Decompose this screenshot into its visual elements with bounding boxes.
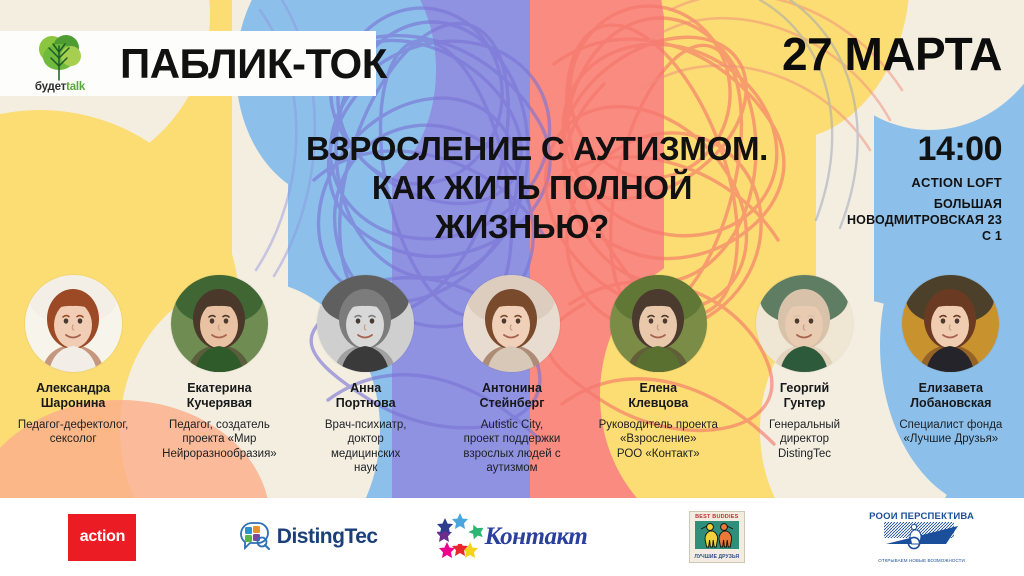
headline-line-3: ЖИЗНЬЮ? xyxy=(10,208,1024,247)
speaker-role: Педагог-дефектолог, сексолог xyxy=(16,418,131,447)
budet-talk-logo[interactable]: будетtalk xyxy=(14,33,106,95)
sponsor-logos-bar: action DistingTec xyxy=(0,498,1024,576)
budet-talk-wordmark: будетtalk xyxy=(14,81,106,93)
kontakt-logo-text: Контакт xyxy=(485,523,588,551)
speakers-row: Александра ШаронинаПедагог-дефектолог, с… xyxy=(0,275,1024,500)
speaker-card: Екатерина КучеряваяПедагог, создатель пр… xyxy=(146,275,292,500)
speaker-name: Георгий Гунтер xyxy=(780,381,829,411)
speaker-name: Екатерина Кучерявая xyxy=(187,381,252,411)
speaker-avatar xyxy=(171,275,268,372)
header-banner: будетtalk ПАБЛИК-ТОК xyxy=(0,31,376,96)
brain-puzzle-icon xyxy=(237,520,271,555)
speaker-avatar xyxy=(463,275,560,372)
perspektiva-logo-subtext: ОТКРЫВАЕМ НОВЫЕ ВОЗМОЖНОСТИ xyxy=(878,558,965,563)
logo-word-talk: talk xyxy=(66,81,85,93)
speaker-card: Александра ШаронинаПедагог-дефектолог, с… xyxy=(0,275,146,500)
speaker-role: Врач-психиатр, доктор медицинских наук xyxy=(323,418,409,476)
logo-word-budet: будет xyxy=(35,81,66,93)
perspektiva-logo-text: РООИ ПЕРСПЕКТИВА xyxy=(869,511,974,522)
wheelchair-arrow-icon xyxy=(880,522,964,557)
logo-slot-action[interactable]: action xyxy=(0,498,205,576)
speaker-role: Руководитель проекта «Взросление» РОО «К… xyxy=(597,418,720,461)
speaker-card: Антонина СтейнбергAutistic City, проект … xyxy=(439,275,585,500)
action-logo[interactable]: action xyxy=(68,514,136,561)
distingtec-logo[interactable]: DistingTec xyxy=(237,520,378,555)
kontakt-logo[interactable]: Контакт xyxy=(437,512,588,563)
logo-slot-perspektiva[interactable]: РООИ ПЕРСПЕКТИВА xyxy=(819,498,1024,576)
speaker-avatar xyxy=(902,275,999,372)
speaker-card: Елизавета ЛобановскаяСпециалист фонда «Л… xyxy=(878,275,1024,500)
event-headline: ВЗРОСЛЕНИЕ С АУТИЗМОМ. КАК ЖИТЬ ПОЛНОЙ Ж… xyxy=(0,130,1024,247)
speaker-role: Педагог, создатель проекта «Мир Нейрораз… xyxy=(160,418,279,461)
speaker-name: Елизавета Лобановская xyxy=(910,381,991,411)
two-figures-icon xyxy=(695,521,739,554)
best-buddies-bottom-text: ЛУЧШИЕ ДРУЗЬЯ xyxy=(694,554,739,560)
speaker-name: Елена Клевцова xyxy=(628,381,688,411)
headline-line-1: ВЗРОСЛЕНИЕ С АУТИЗМОМ. xyxy=(10,130,1024,169)
distingtec-logo-text: DistingTec xyxy=(277,525,378,549)
event-date: 27 МАРТА xyxy=(782,27,1002,81)
speaker-role: Autistic City, проект поддержки взрослых… xyxy=(439,418,585,476)
rooi-perspektiva-logo[interactable]: РООИ ПЕРСПЕКТИВА xyxy=(869,511,974,563)
speaker-avatar xyxy=(317,275,414,372)
speaker-name: Анна Портнова xyxy=(336,381,396,411)
speaker-card: Елена КлевцоваРуководитель проекта «Взро… xyxy=(585,275,731,500)
speaker-avatar xyxy=(756,275,853,372)
action-logo-text: action xyxy=(80,528,125,546)
page-title: ПАБЛИК-ТОК xyxy=(120,43,387,85)
headline-line-2: КАК ЖИТЬ ПОЛНОЙ xyxy=(10,169,1024,208)
best-buddies-top-text: BEST BUDDIES xyxy=(695,514,738,520)
speaker-card: Анна ПортноваВрач-психиатр, доктор медиц… xyxy=(293,275,439,500)
speaker-name: Антонина Стейнберг xyxy=(480,381,545,411)
speaker-avatar xyxy=(25,275,122,372)
speaker-role: Генеральный директор DistingTec xyxy=(767,418,842,461)
logo-slot-distingtec[interactable]: DistingTec xyxy=(205,498,410,576)
logo-slot-best-buddies[interactable]: BEST BUDDIES xyxy=(614,498,819,576)
event-poster: будетtalk ПАБЛИК-ТОК 27 МАРТА 14:00 ACTI… xyxy=(0,0,1024,576)
logo-slot-kontakt[interactable]: Контакт xyxy=(410,498,615,576)
tree-icon xyxy=(33,34,87,87)
speaker-avatar xyxy=(610,275,707,372)
speaker-name: Александра Шаронина xyxy=(36,381,110,411)
speaker-card: Георгий ГунтерГенеральный директор Disti… xyxy=(731,275,877,500)
star-people-circle-icon xyxy=(437,512,483,563)
best-buddies-logo[interactable]: BEST BUDDIES xyxy=(689,511,745,563)
speaker-role: Специалист фонда «Лучшие Друзья» xyxy=(897,418,1004,447)
